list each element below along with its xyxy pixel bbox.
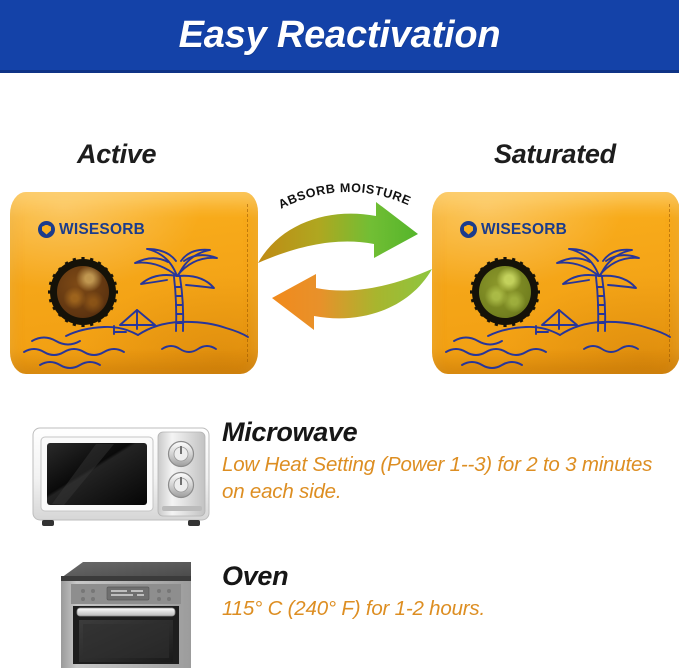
oven-description: 115° C (240° F) for 1-2 hours.: [222, 596, 672, 622]
oven-title: Oven: [222, 562, 672, 590]
oven-text-block: Oven 115° C (240° F) for 1-2 hours.: [222, 562, 672, 623]
wisesorb-shield-icon: [38, 221, 55, 238]
header-banner: Easy Reactivation: [0, 0, 679, 73]
arc-label-absorb-moisture: ABSORB MOISTURE: [276, 181, 413, 212]
absorb-moisture-cycle: ABSORB MOISTURE: [250, 172, 440, 352]
state-label-saturated: Saturated: [494, 139, 616, 170]
microwave-text-block: Microwave Low Heat Setting (Power 1--3) …: [222, 418, 672, 505]
humidity-indicator-saturated: [472, 259, 538, 325]
oven-icon: [55, 556, 195, 668]
brand-name: WISESORB: [481, 222, 567, 238]
sachet-bag-saturated: WISESORB: [432, 192, 679, 374]
humidity-indicator-active: [50, 259, 116, 325]
sachet-bag-active: WISESORB: [10, 192, 258, 374]
brand-logo-active: WISESORB: [38, 221, 145, 238]
indicator-disc-saturated: [479, 266, 531, 318]
microwave-description: Low Heat Setting (Power 1--3) for 2 to 3…: [222, 452, 672, 504]
brand-name: WISESORB: [59, 222, 145, 238]
wisesorb-shield-icon: [460, 221, 477, 238]
microwave-title: Microwave: [222, 418, 672, 446]
page-title: Easy Reactivation: [179, 16, 501, 54]
state-label-active: Active: [77, 139, 156, 170]
arrow-reactivate-bottom: [272, 269, 432, 330]
brand-logo-saturated: WISESORB: [460, 221, 567, 238]
microwave-icon: [30, 422, 212, 532]
indicator-disc-active: [57, 266, 109, 318]
